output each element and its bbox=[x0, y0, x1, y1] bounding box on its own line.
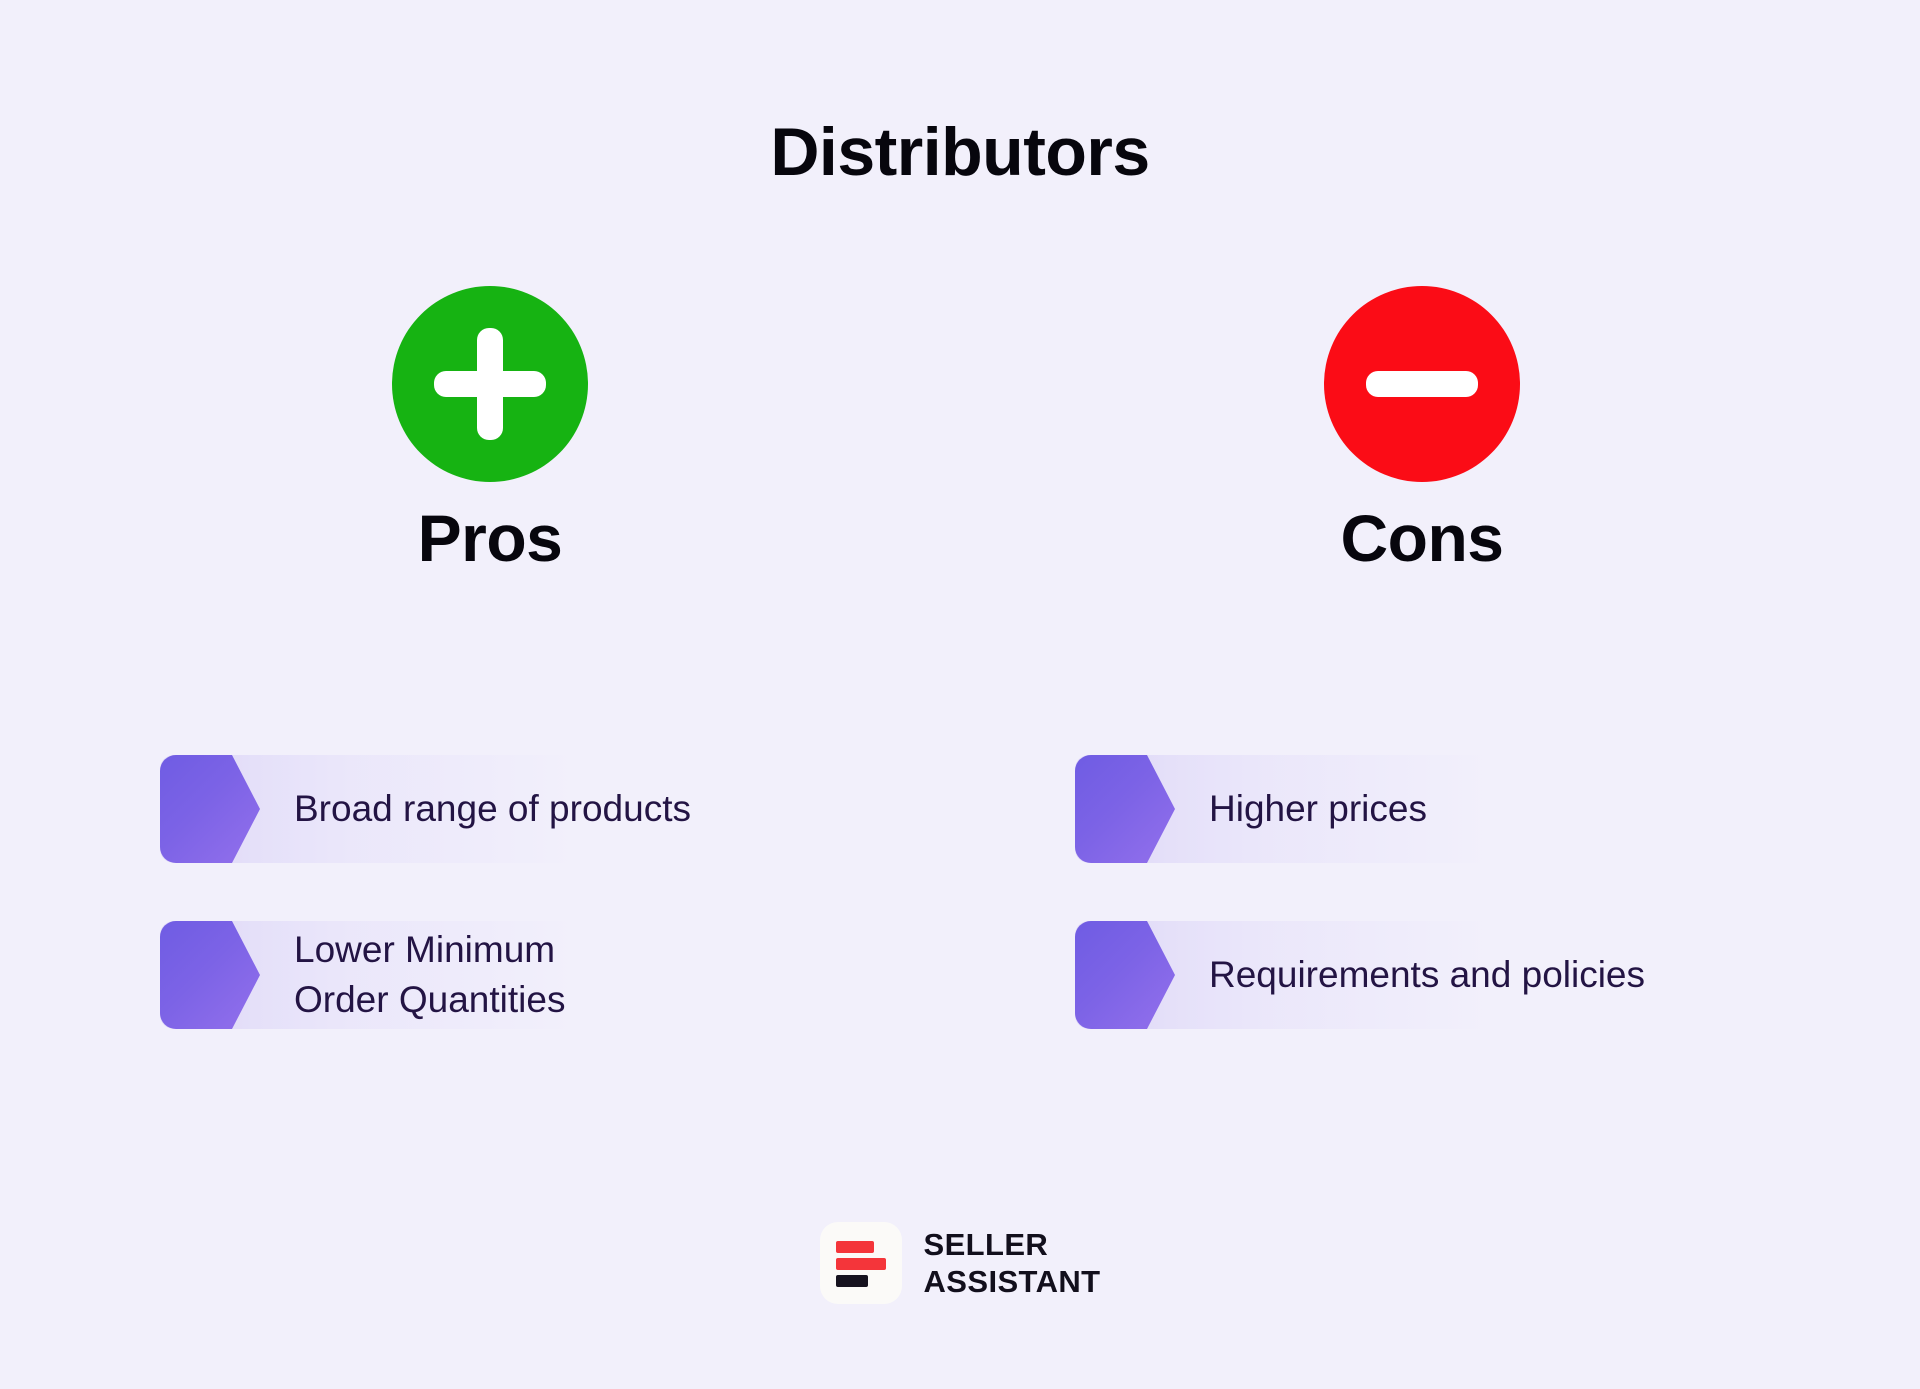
minus-horizontal-bar bbox=[1366, 371, 1478, 397]
infographic-canvas: Distributors Pros Cons Broad range of pr… bbox=[0, 0, 1920, 1389]
list-item: Lower Minimum Order Quantities bbox=[160, 921, 580, 1029]
brand-line-1: SELLER bbox=[924, 1226, 1101, 1263]
seller-assistant-logo-icon bbox=[820, 1222, 902, 1304]
minus-circle-icon bbox=[1324, 286, 1520, 482]
page-title: Distributors bbox=[0, 118, 1920, 186]
list-item: Broad range of products bbox=[160, 755, 580, 863]
logo-bar-3 bbox=[836, 1275, 868, 1287]
plus-vertical-bar bbox=[477, 328, 503, 440]
brand-line-2: ASSISTANT bbox=[924, 1263, 1101, 1300]
logo-bar-2 bbox=[836, 1258, 886, 1270]
chevron-right-icon bbox=[160, 755, 260, 863]
list-item-label: Requirements and policies bbox=[1175, 950, 1655, 1000]
column-header-cons: Cons bbox=[1212, 286, 1632, 573]
chevron-right-icon bbox=[1075, 755, 1175, 863]
list-item: Higher prices bbox=[1075, 755, 1495, 863]
chevron-right-icon bbox=[1075, 921, 1175, 1029]
list-item-label: Lower Minimum Order Quantities bbox=[260, 925, 580, 1026]
list-cons: Higher prices Requirements and policies bbox=[1075, 755, 1875, 1087]
list-pros: Broad range of products Lower Minimum Or… bbox=[160, 755, 880, 1087]
logo-bar-1 bbox=[836, 1241, 874, 1253]
brand-wordmark: SELLER ASSISTANT bbox=[924, 1226, 1101, 1300]
column-label-pros: Pros bbox=[280, 504, 700, 573]
footer-brand: SELLER ASSISTANT bbox=[0, 1222, 1920, 1304]
list-item: Requirements and policies bbox=[1075, 921, 1495, 1029]
list-item-label: Broad range of products bbox=[260, 784, 701, 834]
column-header-pros: Pros bbox=[280, 286, 700, 573]
list-item-label: Higher prices bbox=[1175, 784, 1495, 834]
plus-circle-icon bbox=[392, 286, 588, 482]
chevron-right-icon bbox=[160, 921, 260, 1029]
column-label-cons: Cons bbox=[1212, 504, 1632, 573]
